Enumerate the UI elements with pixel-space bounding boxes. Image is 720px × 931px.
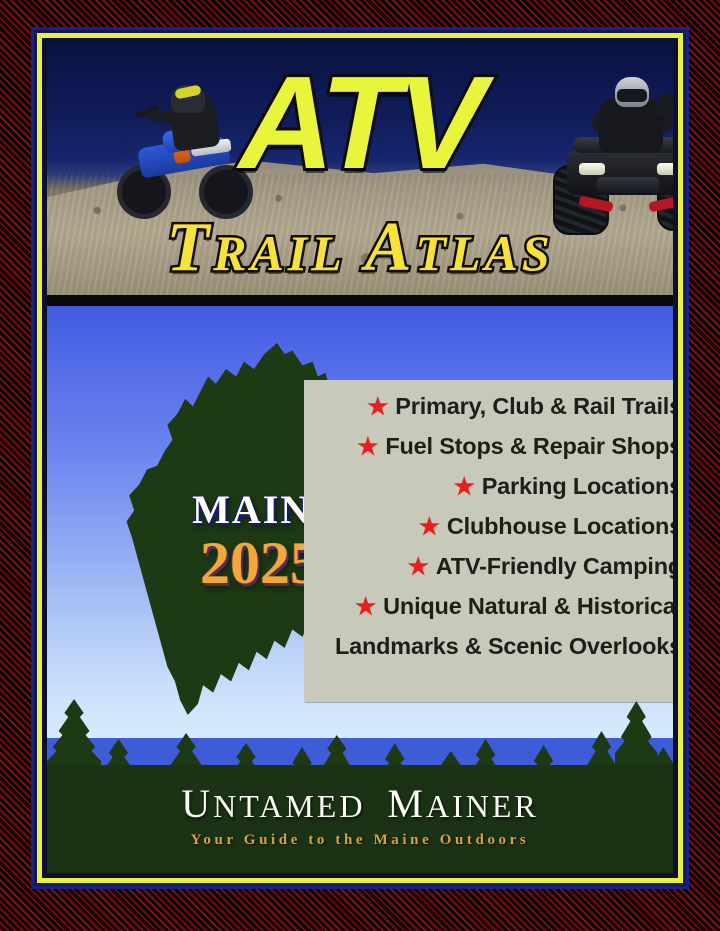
star-icon bbox=[419, 516, 440, 536]
header-photo-banner: ATV TRAIL ATLAS bbox=[47, 43, 673, 295]
publisher-word-untamed: NTAMED bbox=[213, 788, 365, 824]
publisher-tagline: Your Guide to the Maine Outdoors bbox=[47, 832, 673, 849]
star-icon bbox=[357, 436, 378, 456]
title-word-trail: TRAIL bbox=[166, 209, 345, 286]
star-icon bbox=[408, 556, 429, 576]
feature-label: Fuel Stops & Repair Shops bbox=[385, 433, 673, 460]
star-icon bbox=[367, 396, 388, 416]
title-trail-atlas: TRAIL ATLAS bbox=[47, 213, 673, 283]
feature-item: Unique Natural & Historical bbox=[304, 586, 673, 626]
cover-navy-border: ATV TRAIL ATLAS MAINE bbox=[31, 27, 689, 889]
feature-item: Primary, Club & Rail Trails bbox=[304, 386, 673, 426]
publisher-word-mainer: AINER bbox=[426, 788, 539, 824]
feature-item: Parking Locations bbox=[304, 466, 673, 506]
feature-label: Clubhouse Locations bbox=[447, 513, 673, 540]
title-atv: ATV bbox=[47, 57, 673, 189]
feature-label: ATV-Friendly Camping bbox=[436, 553, 673, 580]
feature-item: Clubhouse Locations bbox=[304, 506, 673, 546]
publisher-initial-u: U bbox=[181, 781, 213, 826]
feature-label: Primary, Club & Rail Trails bbox=[395, 393, 673, 420]
book-cover: ATV TRAIL ATLAS MAINE bbox=[0, 0, 720, 931]
publisher-name: UNTAMED MAINER bbox=[47, 780, 673, 827]
feature-item: ATV-Friendly Camping bbox=[304, 546, 673, 586]
feature-item: Fuel Stops & Repair Shops bbox=[304, 426, 673, 466]
cover-canvas: ATV TRAIL ATLAS MAINE bbox=[47, 43, 673, 873]
star-icon bbox=[454, 476, 475, 496]
banner-divider-bar bbox=[47, 295, 673, 306]
publisher-initial-m: M bbox=[387, 781, 426, 826]
feature-label: Unique Natural & Historical bbox=[383, 593, 673, 620]
feature-label: Parking Locations bbox=[482, 473, 673, 500]
star-icon bbox=[355, 596, 376, 616]
cover-yellow-border: ATV TRAIL ATLAS MAINE bbox=[37, 33, 683, 883]
title-word-atlas: ATLAS bbox=[365, 209, 554, 286]
